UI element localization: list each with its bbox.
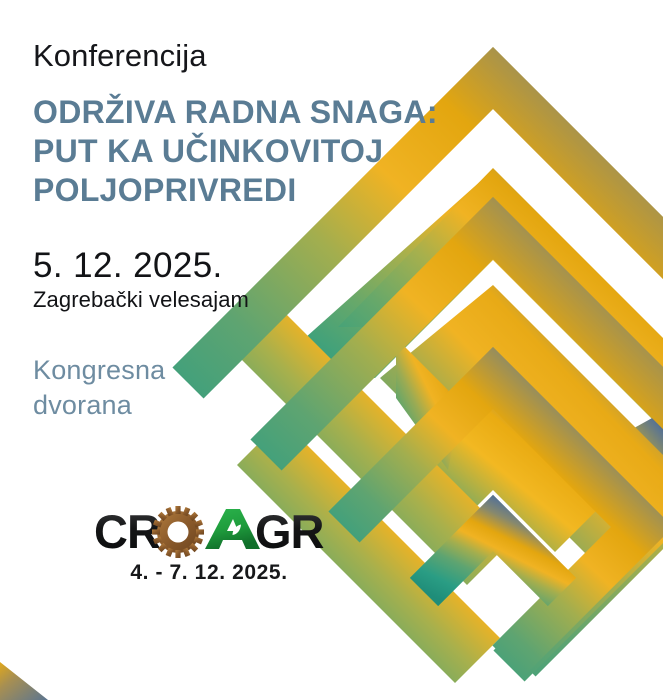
bottom-left-corner-wedge [0,662,48,700]
croagro-text-before: CR [94,505,160,558]
event-venue: Zagrebački velesajam [33,287,463,313]
gear-icon [152,506,204,558]
event-hall: Kongresna dvorana [33,353,463,423]
croagro-text-after: GRO [255,505,324,558]
spiral-stroke-1b [555,412,663,545]
page-title: ODRŽIVA RADNA SNAGA: PUT KA UČINKOVITOJ … [33,93,463,210]
conference-poster: Konferencija ODRŽIVA RADNA SNAGA: PUT KA… [0,0,663,700]
croagro-fair-dates: 4. - 7. 12. 2025. [98,561,320,585]
poster-text-block: Konferencija ODRŽIVA RADNA SNAGA: PUT KA… [33,38,463,423]
event-date: 5. 12. 2025. [33,246,463,285]
headline-line-3: POLJOPRIVREDI [33,171,463,210]
headline-line-2: PUT KA UČINKOVITOJ [33,132,463,171]
headline-line-1: ODRŽIVA RADNA SNAGA: [33,93,463,132]
event-hall-line-2: dvorana [33,388,463,423]
event-date-block: 5. 12. 2025. Zagrebački velesajam [33,246,463,313]
kicker-konferencija: Konferencija [33,38,463,75]
spiral-turn-4 [424,523,562,592]
croagro-wordmark: CR [94,505,324,559]
leaf-a-letter [205,509,260,549]
croagro-logo: CR [94,505,324,585]
event-hall-line-1: Kongresna [33,353,463,388]
